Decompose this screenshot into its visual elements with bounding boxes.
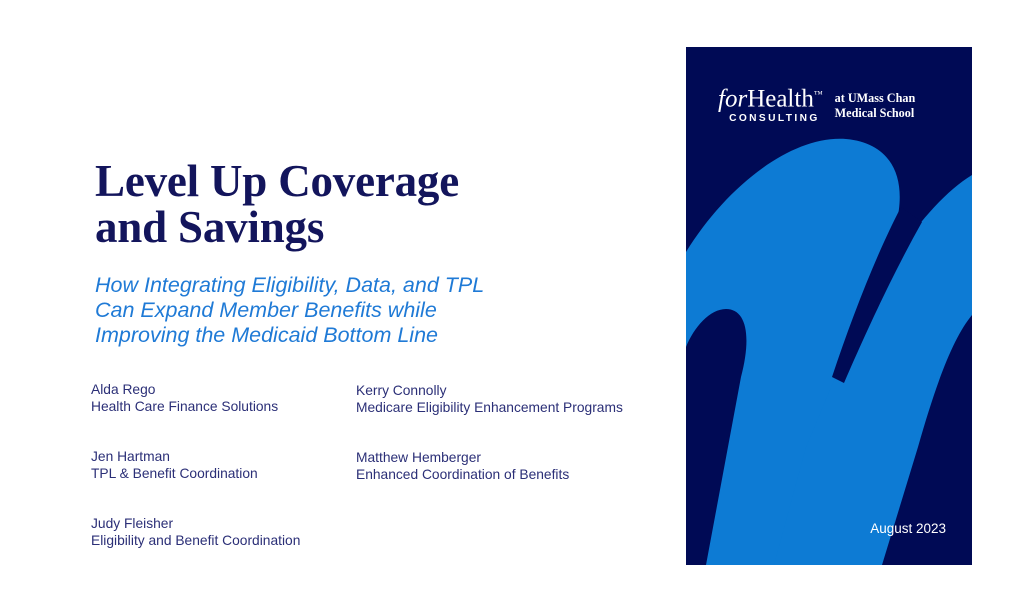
presenter-name: Jen Hartman — [91, 448, 356, 465]
presenter-column-right: Kerry Connolly Medicare Eligibility Enha… — [356, 381, 671, 483]
presenter-entry: Kerry Connolly Medicare Eligibility Enha… — [356, 382, 671, 416]
presentation-title-slide: Level Up Coverage and Savings How Integr… — [0, 0, 1024, 613]
presenter-name: Kerry Connolly — [356, 382, 671, 399]
presenter-role: Medicare Eligibility Enhancement Program… — [356, 399, 671, 416]
presenter-role: Eligibility and Benefit Coordination — [91, 532, 356, 549]
presenter-list: Alda Rego Health Care Finance Solutions … — [91, 381, 671, 549]
logo-mark: forHealth™ CONSULTING — [718, 81, 823, 124]
presenter-entry: Jen Hartman TPL & Benefit Coordination — [91, 448, 356, 482]
slide-title: Level Up Coverage and Savings — [95, 158, 655, 250]
presenter-entry: Judy Fleisher Eligibility and Benefit Co… — [91, 515, 356, 549]
subtitle-block: How Integrating Eligibility, Data, and T… — [95, 273, 655, 349]
logo-wordmark: forHealth™ — [718, 81, 823, 112]
title-block: Level Up Coverage and Savings — [95, 158, 655, 250]
presenter-column-left: Alda Rego Health Care Finance Solutions … — [91, 381, 356, 549]
presenter-name: Alda Rego — [91, 381, 356, 398]
presenter-role: Health Care Finance Solutions — [91, 398, 356, 415]
presenter-name: Judy Fleisher — [91, 515, 356, 532]
presenter-role: TPL & Benefit Coordination — [91, 465, 356, 482]
presenter-entry: Alda Rego Health Care Finance Solutions — [91, 381, 356, 415]
slide-subtitle: How Integrating Eligibility, Data, and T… — [95, 273, 655, 349]
presenter-entry: Matthew Hemberger Enhanced Coordination … — [356, 449, 671, 483]
brand-panel: forHealth™ CONSULTING at UMass Chan Medi… — [686, 47, 972, 565]
presenter-role: Enhanced Coordination of Benefits — [356, 466, 671, 483]
presenter-name: Matthew Hemberger — [356, 449, 671, 466]
forhealth-consulting-logo: forHealth™ CONSULTING at UMass Chan Medi… — [718, 81, 915, 124]
presentation-date: August 2023 — [870, 521, 946, 536]
logo-consulting-label: CONSULTING — [718, 113, 823, 124]
logo-affiliation: at UMass Chan Medical School — [835, 91, 916, 120]
forhealth-v-swoosh-graphic — [686, 47, 972, 565]
logo-word-for: for — [718, 85, 747, 112]
logo-word-health: Health — [747, 85, 814, 112]
trademark-symbol: ™ — [814, 89, 823, 99]
